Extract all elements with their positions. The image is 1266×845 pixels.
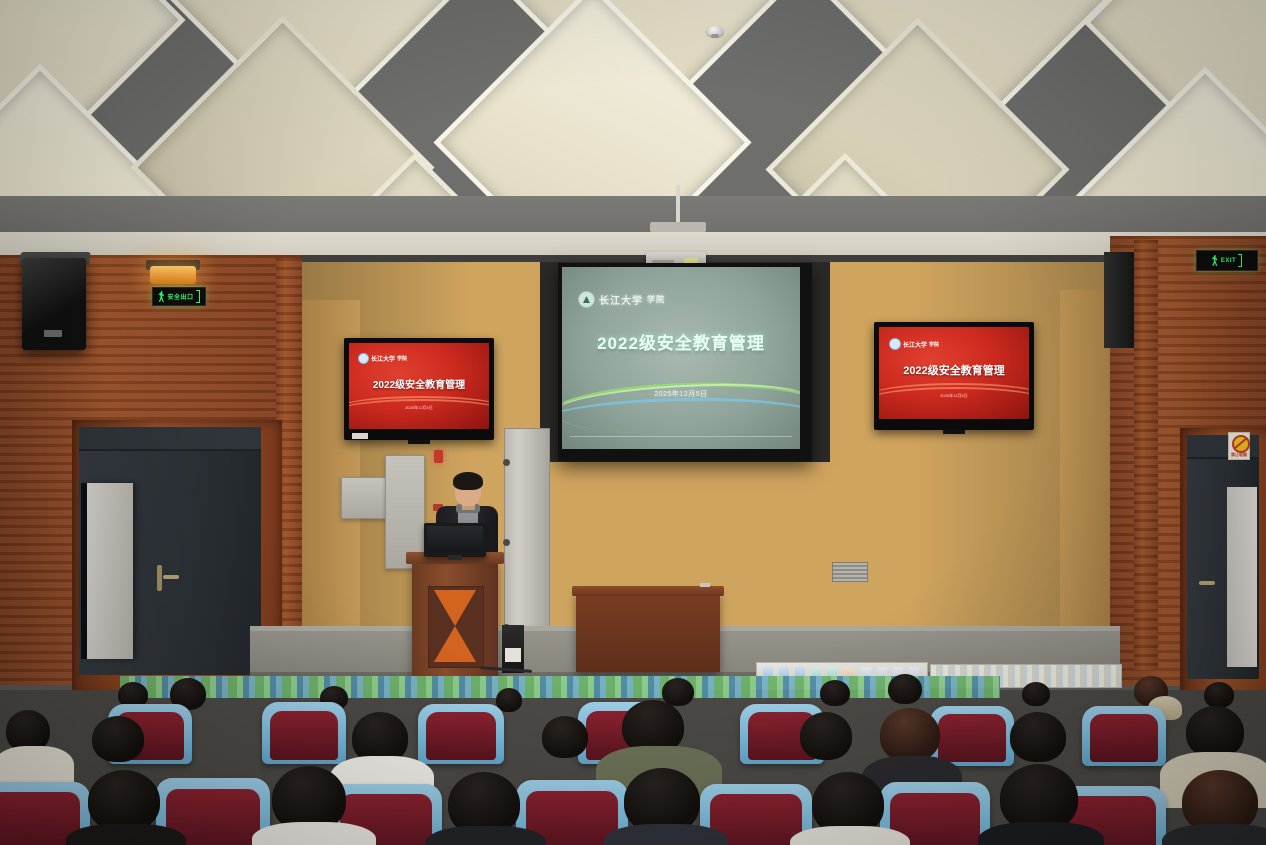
wall-vent-icon [832, 562, 868, 582]
audience-shoulders [790, 826, 910, 845]
audience-shoulders [426, 826, 546, 845]
no-smoking-sign: 禁止吸烟 [1228, 432, 1250, 460]
audience-head [662, 678, 694, 706]
slide-title: 2022级安全教育管理 [562, 329, 800, 354]
projector-mount-pole [676, 185, 680, 227]
wall-label-plate [352, 433, 368, 439]
door-left-handle[interactable] [163, 575, 179, 579]
tv-right-swoosh [879, 383, 1029, 409]
audience-head [542, 716, 588, 758]
slide-logo: 长江大学 学院 [578, 291, 665, 308]
tv-right-slide: 长江大学 学院 2022级安全教育管理 2025年12月5日 [879, 327, 1029, 419]
presenter-monitor-screen [427, 526, 483, 552]
tv-left-swoosh [349, 396, 489, 420]
tv-left-logo: 长江大学 学院 [358, 353, 407, 364]
no-smoking-icon [1232, 435, 1250, 453]
wall-light [150, 266, 196, 284]
audience-head [1022, 682, 1050, 706]
fire-alarm-icon [434, 450, 443, 463]
slide-logo-text: 长江大学 [599, 292, 643, 307]
exit-sign-right-text: EXIT [1221, 258, 1236, 264]
utility-cabinet-door[interactable] [504, 428, 550, 648]
door-left-leaf[interactable] [79, 427, 261, 675]
tv-left-logo-suffix: 学院 [397, 355, 407, 362]
audience-shoulders [978, 822, 1104, 845]
tv-right-stand [943, 430, 965, 434]
audience-head [800, 712, 852, 760]
seat[interactable] [262, 702, 346, 764]
wood-column-center-right [1134, 240, 1158, 670]
auditorium-photo: 长江大学 学院 2022级安全教育管理 2025年12月5日 长江大学 学院 2… [0, 0, 1266, 845]
tv-right-title: 2022级安全教育管理 [879, 362, 1029, 378]
audience-head [888, 674, 922, 704]
tv-left-logo-text: 长江大学 [371, 354, 395, 363]
door-right-open-panel [1227, 487, 1257, 667]
audience-shoulders [66, 824, 186, 845]
audience-head [88, 770, 160, 832]
audience-shoulders [604, 824, 728, 845]
slide-logo-suffix: 学院 [647, 294, 665, 305]
audience-head [1186, 706, 1244, 758]
university-emblem-icon [889, 338, 901, 350]
seat-cushion [270, 711, 339, 761]
slide-baseline [570, 436, 792, 437]
audience-shoulders [252, 822, 376, 845]
seat-cushion [1090, 714, 1159, 762]
projector-mount-arm [650, 222, 706, 232]
university-emblem-icon [578, 291, 595, 308]
cabinet-hinge-icon [503, 539, 510, 546]
no-smoking-text: 禁止吸烟 [1229, 452, 1249, 458]
projection-screen: 长江大学 学院 2022级安全教育管理 2025年12月5日 [558, 263, 812, 461]
seat-cushion [426, 712, 497, 760]
running-man-icon [158, 291, 165, 302]
smoke-detector-icon [707, 26, 723, 36]
door-right-leaf[interactable] [1187, 435, 1259, 679]
audience-head [820, 680, 850, 706]
audience-head [1010, 712, 1066, 762]
running-man-icon [1212, 255, 1219, 266]
audience-head [92, 716, 144, 762]
door-left-transom [79, 427, 261, 451]
tv-right-logo-text: 长江大学 [903, 340, 927, 349]
audience-head [1204, 682, 1234, 708]
exit-sign-left: 安全出口 [152, 287, 206, 306]
exit-sign-right: EXIT [1196, 250, 1258, 271]
tv-left-slide: 长江大学 学院 2022级安全教育管理 2025年12月5日 [349, 343, 489, 429]
tv-left-title: 2022级安全教育管理 [349, 376, 489, 391]
door-right-handle[interactable] [1199, 581, 1215, 585]
tv-right-logo-suffix: 学院 [929, 341, 939, 348]
seat[interactable] [418, 704, 504, 764]
audience-shoulders [1162, 824, 1266, 845]
exit-sign-left-text: 安全出口 [167, 292, 193, 301]
loudspeaker-left-badge [44, 330, 62, 337]
audience-area [0, 660, 1266, 845]
stage-table-top [572, 586, 724, 596]
seat-cushion [938, 714, 1007, 762]
seat[interactable] [1082, 706, 1166, 766]
loudspeaker-right [1104, 252, 1134, 348]
audience-head [880, 708, 940, 762]
exit-door-icon [196, 290, 200, 303]
presenter-monitor-stand [448, 555, 462, 560]
door-left-open-panel [87, 483, 133, 659]
door-left-escutcheon [157, 565, 162, 591]
tv-right-logo: 长江大学 学院 [889, 338, 939, 350]
exit-door-icon [1238, 254, 1242, 267]
tv-display-left: 长江大学 学院 2022级安全教育管理 2025年12月5日 [344, 338, 494, 440]
cabinet-hinge-icon [503, 459, 510, 466]
presenter-hair [453, 472, 483, 490]
projected-slide: 长江大学 学院 2022级安全教育管理 2025年12月5日 [562, 267, 800, 449]
tv-display-right: 长江大学 学院 2022级安全教育管理 2025年12月5日 [874, 322, 1034, 430]
seat[interactable] [930, 706, 1014, 766]
table-microphone-icon [700, 583, 710, 587]
university-emblem-icon [358, 353, 369, 364]
tv-left-stand [408, 440, 430, 444]
